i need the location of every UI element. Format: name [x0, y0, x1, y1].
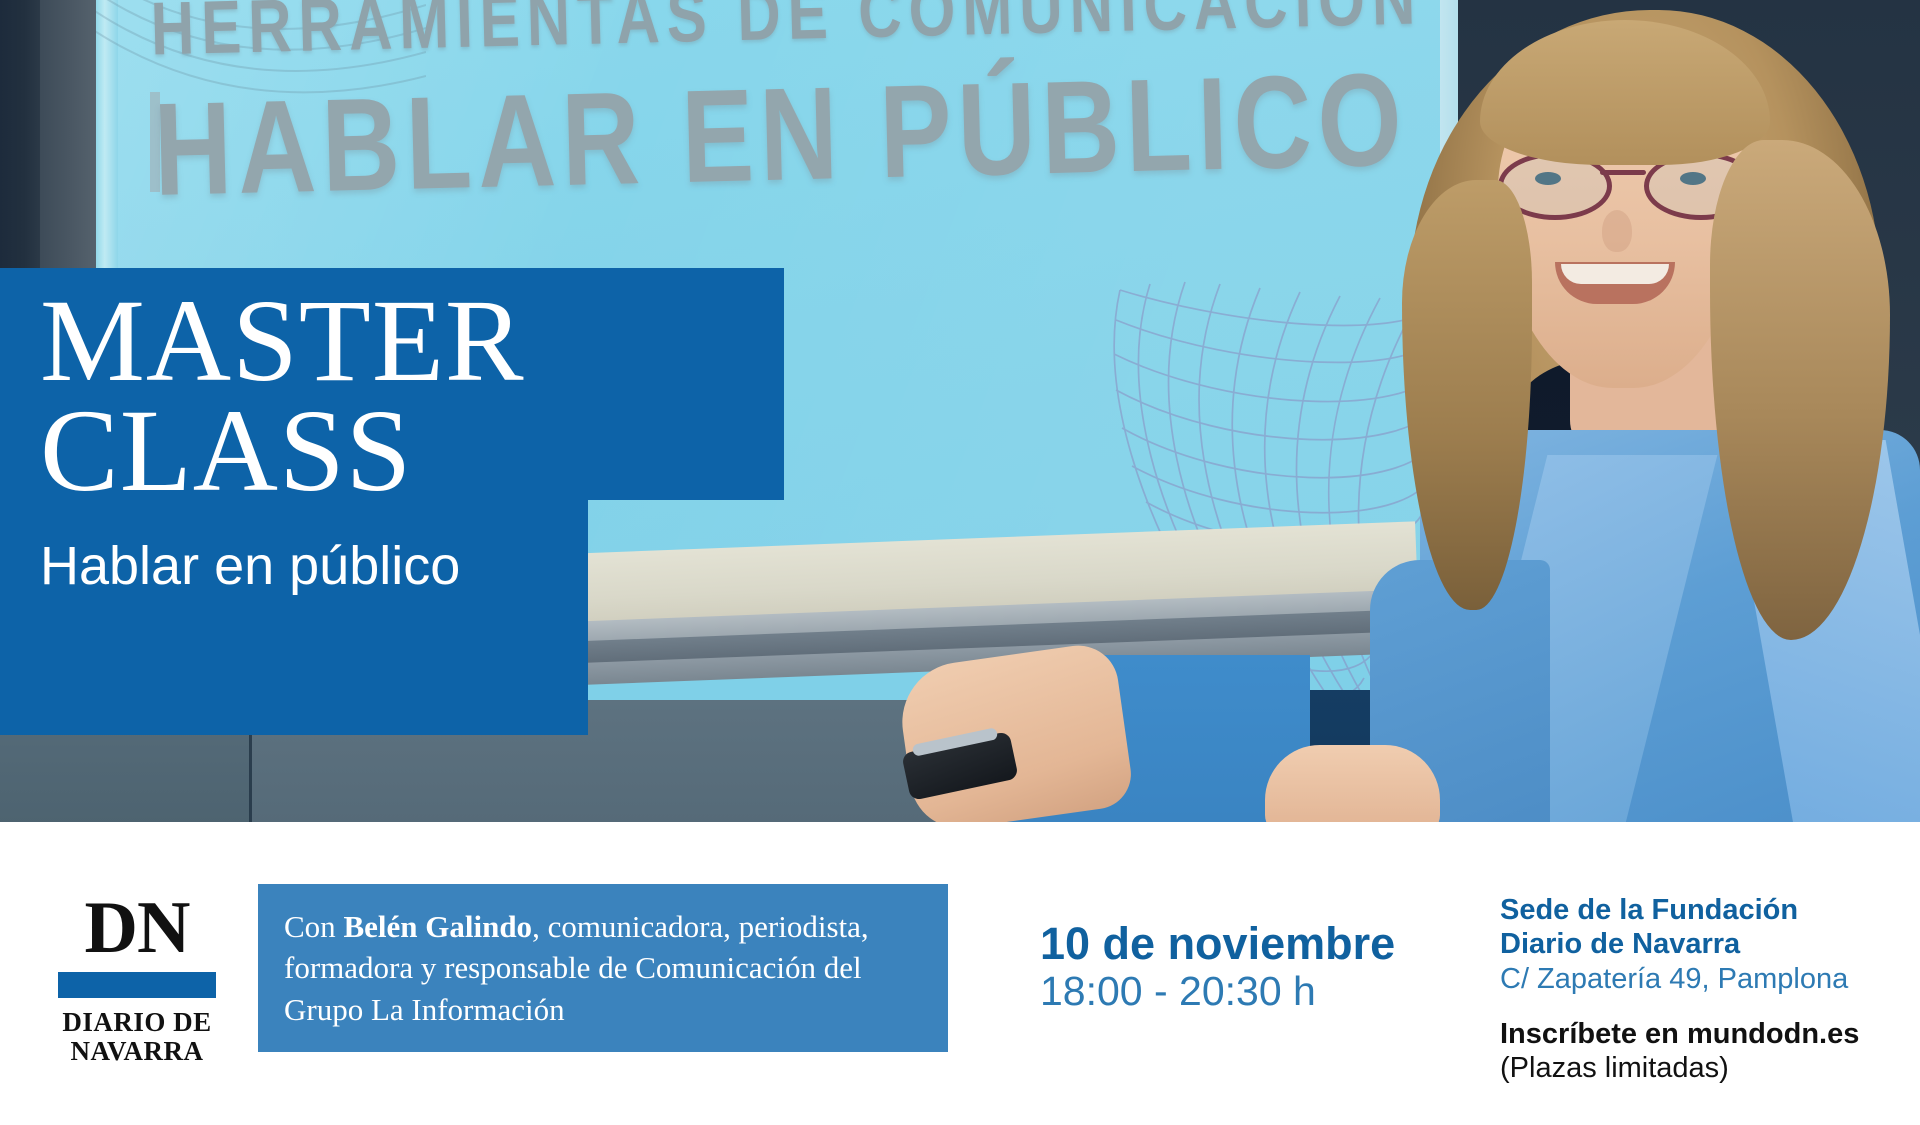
venue-name-line-1: Sede de la Fundación	[1500, 894, 1900, 928]
event-photo: HERRAMIENTAS DE COMUNICACIÓN HABLAR EN P…	[0, 0, 1920, 822]
diario-de-navarra-logo[interactable]: DN DIARIO DE NAVARRA	[42, 894, 232, 1066]
venue-block: Sede de la Fundación Diario de Navarra C…	[1500, 894, 1900, 1086]
speaker-prefix: Con	[284, 909, 343, 944]
signup-call-to-action[interactable]: Inscríbete en mundodn.es	[1500, 1017, 1900, 1052]
event-date: 10 de noviembre	[1040, 920, 1460, 969]
speaker-bio-box: Con Belén Galindo, comunicadora, periodi…	[258, 884, 948, 1052]
footer-bar: DN DIARIO DE NAVARRA Con Belén Galindo, …	[0, 822, 1920, 1125]
headline-line-1: MASTER	[40, 286, 800, 396]
logo-blue-rule	[58, 972, 216, 998]
headline-line-2: CLASS	[40, 396, 800, 506]
slide-line-2: HABLAR EN PÚBLICO	[152, 53, 1435, 216]
headline-text-group: MASTER CLASS Hablar en público	[40, 286, 800, 593]
speaker-bio-text: Con Belén Galindo, comunicadora, periodi…	[258, 906, 948, 1030]
speaker-name: Belén Galindo	[343, 909, 532, 944]
logo-name-line-2: NAVARRA	[42, 1037, 232, 1066]
teeth	[1561, 264, 1669, 284]
logo-monogram: DN	[42, 894, 232, 962]
limited-seats-note: (Plazas limitadas)	[1500, 1051, 1900, 1086]
poster-root: HERRAMIENTAS DE COMUNICACIÓN HABLAR EN P…	[0, 0, 1920, 1125]
glasses-bridge	[1600, 170, 1646, 175]
speaker-hand-right	[1265, 745, 1440, 822]
slide-headline: HERRAMIENTAS DE COMUNICACIÓN HABLAR EN P…	[150, 0, 1435, 192]
speaker-portrait	[1380, 0, 1920, 822]
logo-name-line-1: DIARIO DE	[42, 1008, 232, 1037]
nose	[1602, 210, 1632, 252]
schedule-block: 10 de noviembre 18:00 - 20:30 h	[1040, 920, 1460, 1015]
venue-address: C/ Zapatería 49, Pamplona	[1500, 962, 1900, 997]
event-time: 18:00 - 20:30 h	[1040, 969, 1460, 1015]
venue-name-line-2: Diario de Navarra	[1500, 928, 1900, 962]
headline-subtitle: Hablar en público	[40, 539, 800, 593]
